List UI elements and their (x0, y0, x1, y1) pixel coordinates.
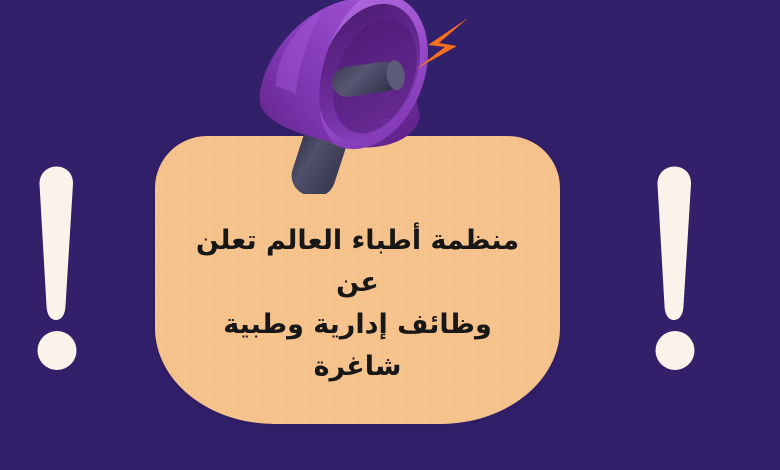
headline-line-2: وظائف إدارية وطبية شاغرة (223, 309, 492, 382)
exclamation-mark-left (22, 166, 92, 376)
exclamation-mark-icon (640, 166, 710, 376)
exclamation-mark-right (640, 166, 710, 376)
announcement-banner: منظمة أطباء العالم تعلن عن وظائف إدارية … (0, 0, 780, 470)
lightning-bolt-illustration (408, 14, 474, 80)
headline-text: منظمة أطباء العالم تعلن عن وظائف إدارية … (155, 220, 560, 388)
lightning-bolt-icon (408, 14, 474, 80)
headline-line-1: منظمة أطباء العالم تعلن عن (196, 225, 519, 298)
exclamation-mark-icon (22, 166, 92, 376)
